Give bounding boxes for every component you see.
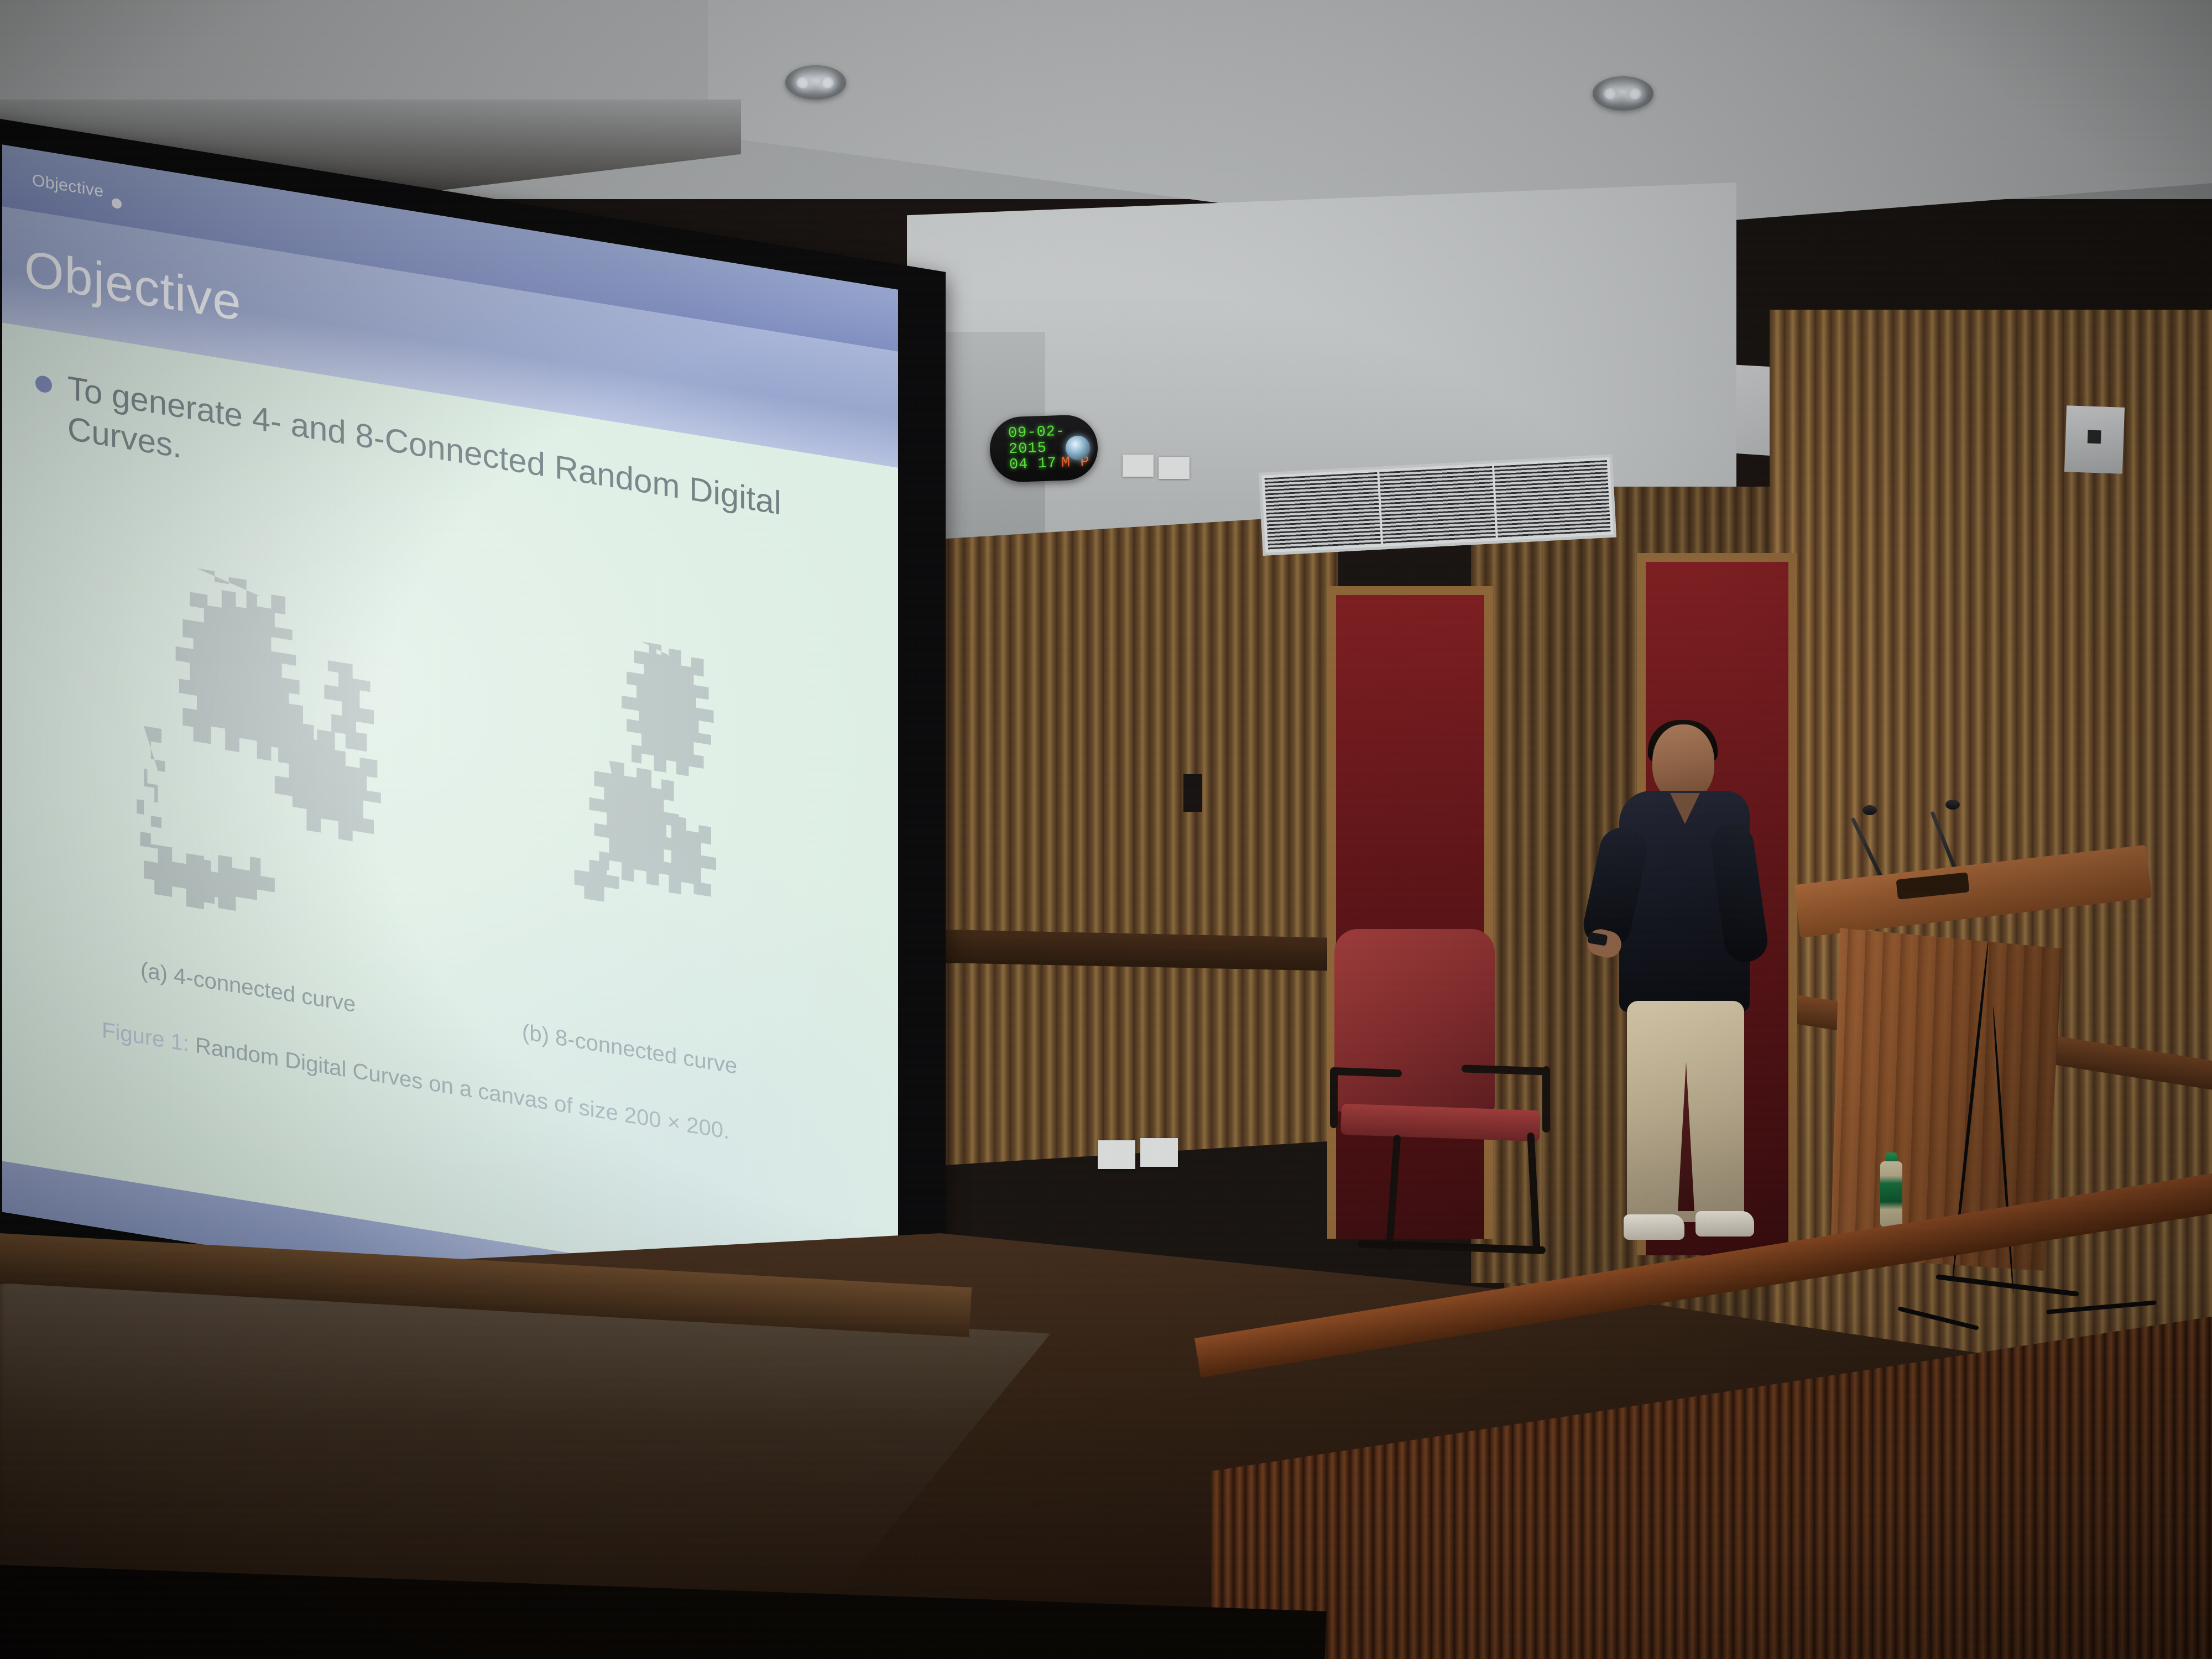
microphone-head-icon (1945, 800, 1960, 810)
red-chair[interactable] (1324, 929, 1562, 1261)
light-switch-plate[interactable] (1098, 1140, 1135, 1169)
figure-4-connected-curve (91, 491, 445, 1002)
slide-breadcrumb: Objective (32, 171, 104, 201)
lecture-hall-photo: 09-02-2015 04 17M P Objective (0, 0, 2212, 1659)
light-switch-plate[interactable] (1159, 457, 1190, 479)
slide-progress-dots (112, 179, 122, 210)
chair-leg (1527, 1133, 1540, 1251)
chair-seat (1340, 1104, 1541, 1142)
presenter-shoe (1624, 1214, 1684, 1240)
slide-body: To generate 4- and 8-Connected Random Di… (2, 323, 898, 1306)
chair-armrest-post (1330, 1068, 1338, 1128)
speaker-port-icon (2088, 430, 2101, 444)
light-switch-plate[interactable] (1123, 455, 1154, 477)
chair-backrest (1334, 929, 1495, 1112)
grille-segment (1265, 472, 1381, 550)
light-switch-plate[interactable] (1140, 1138, 1178, 1167)
screen-surface: Objective Objective To generate 4- and 8… (2, 145, 898, 1357)
ceiling-downlight-icon (785, 65, 846, 100)
wall-mounted-speaker (2064, 405, 2125, 474)
presentation-slide: Objective Objective To generate 4- and 8… (2, 145, 898, 1357)
water-bottle[interactable] (1880, 1161, 1902, 1227)
chair-leg (1386, 1135, 1401, 1251)
ceiling-downlight-icon (1593, 76, 1653, 111)
figure-caption: Figure 1: Random Digital Curves on a can… (102, 1018, 729, 1145)
presenter (1587, 724, 1770, 1255)
curve-4-connected-svg (91, 491, 445, 1002)
figure-number: Figure 1: (102, 1018, 189, 1057)
bottle-body (1880, 1161, 1902, 1227)
figure-8-connected-curve (522, 561, 771, 988)
digital-wall-clock: 09-02-2015 04 17M P (989, 414, 1099, 483)
presenter-head (1652, 724, 1714, 801)
subcaption-b: (b) 8-connected curve (522, 1020, 737, 1079)
microphone-head-icon (1863, 805, 1877, 815)
presenter-shoe (1695, 1211, 1754, 1237)
figure-area: (a) 4-connected curve (b) 8-connected cu… (35, 482, 865, 1114)
chair-base-skid (1358, 1240, 1546, 1254)
clock-time: 04 17 (1009, 455, 1057, 473)
wall-access-panel (1183, 774, 1202, 812)
grille-segment (1379, 466, 1496, 544)
bullet-dot-icon (35, 374, 52, 394)
slide-title: Objective (24, 239, 242, 332)
screen-frame: Objective Objective To generate 4- and 8… (0, 116, 946, 1395)
slatted-wood-wall (918, 514, 1338, 1167)
progress-dot-icon (112, 198, 122, 210)
curve-8-connected-svg (522, 561, 771, 988)
grille-segment (1494, 460, 1611, 538)
chair-armrest-post (1542, 1066, 1550, 1133)
